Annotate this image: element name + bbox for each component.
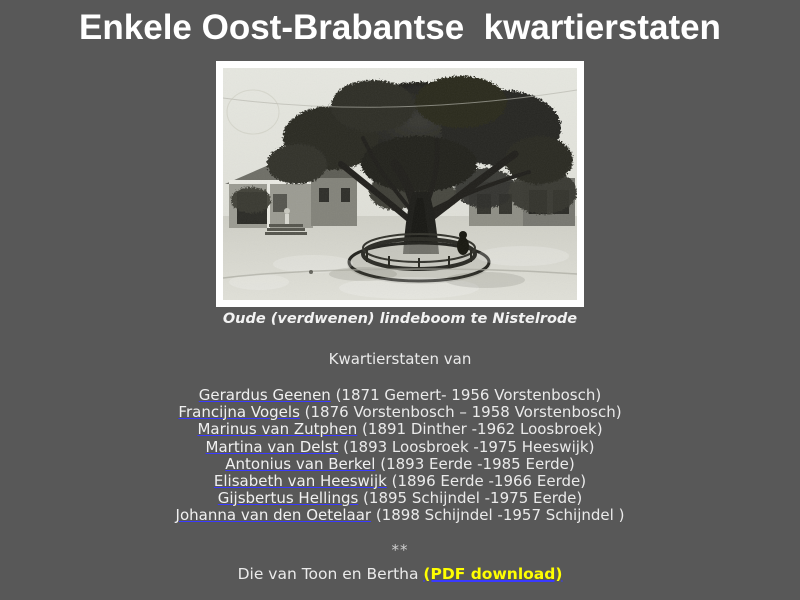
- photo-block: Oude (verdwenen) lindeboom te Nistelrode: [216, 61, 584, 329]
- list-item: Martina van Delst (1893 Loosbroek -1975 …: [0, 439, 800, 456]
- intro-line: Kwartierstaten van: [0, 349, 800, 369]
- kwartierstaten-list: Gerardus Geenen (1871 Gemert- 1956 Vorst…: [0, 387, 800, 525]
- person-link-gerardus-geenen[interactable]: Gerardus Geenen: [199, 386, 331, 404]
- list-item: Antonius van Berkel (1893 Eerde -1985 Ee…: [0, 456, 800, 473]
- person-link-martina-van-delst[interactable]: Martina van Delst: [206, 438, 339, 456]
- person-link-antonius-van-berkel[interactable]: Antonius van Berkel: [225, 455, 375, 473]
- person-link-elisabeth-van-heeswijk[interactable]: Elisabeth van Heeswijk: [214, 472, 387, 490]
- list-item: Marinus van Zutphen (1891 Dinther -1962 …: [0, 421, 800, 438]
- person-details: (1898 Schijndel -1957 Schijndel ): [371, 506, 624, 524]
- person-details: (1893 Loosbroek -1975 Heeswijk): [338, 438, 594, 456]
- person-details: (1876 Vorstenbosch – 1958 Vorstenbosch): [300, 403, 622, 421]
- list-item: Gijsbertus Hellings (1895 Schijndel -197…: [0, 490, 800, 507]
- page-title: Enkele Oost-Brabantse kwartierstaten: [0, 0, 800, 50]
- person-details: (1893 Eerde -1985 Eerde): [375, 455, 574, 473]
- person-details: (1896 Eerde -1966 Eerde): [387, 472, 586, 490]
- pdf-line-prefix: Die van Toon en Bertha: [238, 565, 424, 583]
- person-details: (1871 Gemert- 1956 Vorstenbosch): [331, 386, 601, 404]
- person-link-gijsbertus-hellings[interactable]: Gijsbertus Hellings: [218, 489, 359, 507]
- oude-lindeboom-nistelrode-photo: [223, 68, 577, 300]
- person-link-marinus-van-zutphen[interactable]: Marinus van Zutphen: [197, 420, 357, 438]
- pdf-download-link[interactable]: (PDF download): [423, 565, 562, 583]
- person-details: (1895 Schijndel -1975 Eerde): [358, 489, 582, 507]
- pdf-download-line: Die van Toon en Bertha (PDF download): [0, 564, 800, 584]
- list-item: Francijna Vogels (1876 Vorstenbosch – 19…: [0, 404, 800, 421]
- person-link-francijna-vogels[interactable]: Francijna Vogels: [178, 403, 299, 421]
- photo-caption: Oude (verdwenen) lindeboom te Nistelrode: [216, 309, 584, 329]
- list-item: Johanna van den Oetelaar (1898 Schijndel…: [0, 507, 800, 524]
- person-link-johanna-van-den-oetelaar[interactable]: Johanna van den Oetelaar: [176, 506, 372, 524]
- list-item: Elisabeth van Heeswijk (1896 Eerde -1966…: [0, 473, 800, 490]
- person-details: (1891 Dinther -1962 Loosbroek): [357, 420, 602, 438]
- photo-frame: [216, 61, 584, 307]
- separator-asterisks-first: **: [0, 542, 800, 559]
- list-item: Gerardus Geenen (1871 Gemert- 1956 Vorst…: [0, 387, 800, 404]
